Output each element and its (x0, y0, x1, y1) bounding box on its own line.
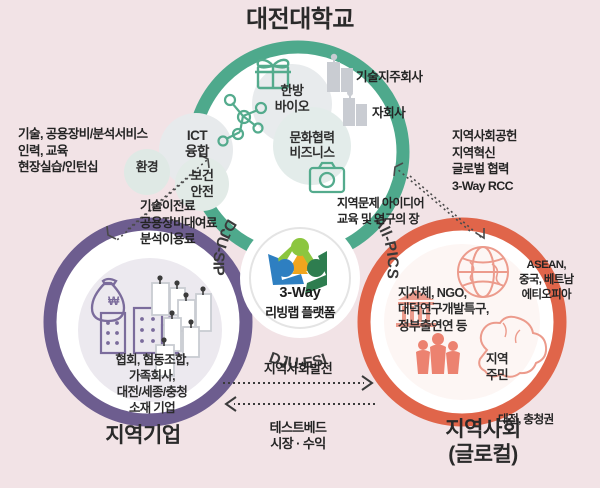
diagram-canvas: ₩ (0, 0, 600, 488)
arrow-bottom-left (226, 397, 375, 411)
label-subsidiary-company: 자회사 (372, 102, 405, 121)
note-global-partners: ASEAN, 중국, 베트남 에티오피아 (519, 258, 574, 303)
note-community-development: 지역사회발전 (228, 360, 368, 377)
arrow-bottom-right (223, 376, 372, 390)
bubble-label-culture-business: 문화협력 비즈니스 (272, 130, 352, 161)
firms-body-text: 협회, 협동조합, 가족회사, 대전/세종/충청 소재 기업 (82, 352, 222, 417)
bubble-label-health-safety: 보건 안전 (172, 168, 232, 199)
label-tech-holding-company: 기술지주회사 (356, 66, 423, 85)
note-local-issue-ideas: 지역문제 아이디어 교육 및 연구의 장 (337, 195, 424, 227)
svg-text:₩: ₩ (108, 294, 120, 308)
note-left-top: 기술, 공용장비/분석서비스 인력, 교육 현장실습/인턴십 (18, 126, 148, 176)
center-platform-name: 3-Way 리빙랩 플랫폼 (232, 285, 368, 321)
note-region: 대전, 충청권 (498, 412, 554, 427)
title-firms: 지역기업 (28, 424, 258, 449)
note-right-top: 지역사회공헌 지역혁신 글로벌 협력 3-Way RCC (452, 128, 517, 194)
note-fees: 기술이전료 공용장비대여료 분석이용료 (140, 198, 217, 248)
bubble-label-ict: ICT 융합 (164, 128, 230, 160)
center-line1: 3-Way (232, 285, 368, 301)
note-testbed: 테스트베드 시장 · 수익 (228, 420, 368, 453)
community-residents-label: 지역 주민 (467, 352, 527, 383)
page-title-university: 대전대학교 (0, 6, 600, 34)
title-community: 지역사회 (글로컬) (368, 418, 598, 468)
center-line2: 리빙랩 플랫폼 (232, 302, 368, 321)
bubble-label-hanbang-bio: 한방 바이오 (255, 83, 329, 114)
